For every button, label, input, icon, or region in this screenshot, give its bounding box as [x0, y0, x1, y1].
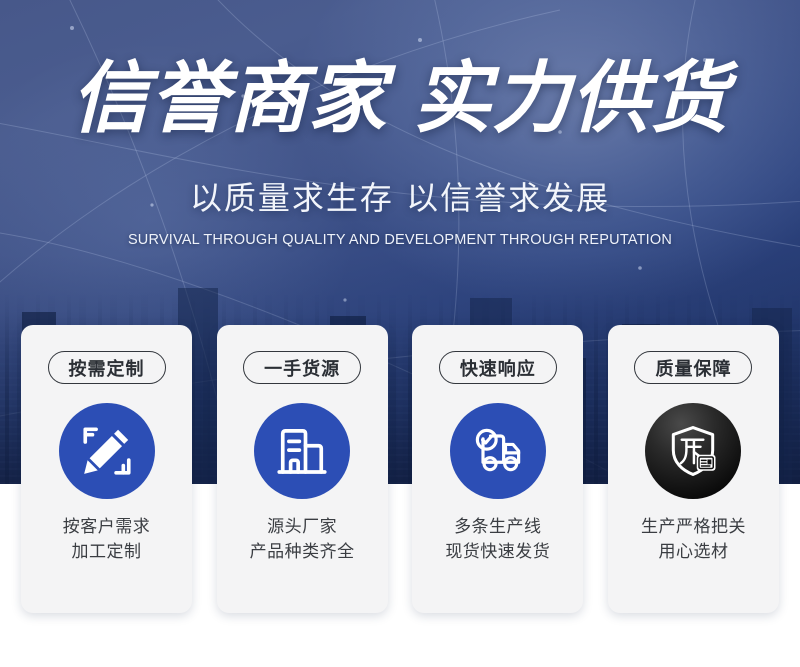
- headline-part-2: 实力供货: [413, 54, 729, 144]
- icon-circle: [59, 403, 155, 499]
- quality-shield-icon: [663, 421, 723, 481]
- card-badge: 质量保障: [634, 351, 752, 384]
- card-caption-line1: 多条生产线: [445, 515, 550, 540]
- card-caption-line2: 现货快速发货: [445, 540, 550, 565]
- card-badge: 一手货源: [243, 351, 361, 384]
- feature-card-source[interactable]: 一手货源 源头厂家 产品种类齐全: [217, 325, 388, 613]
- feature-card-response[interactable]: 快速响应 多条生产线 现货快速发货: [412, 325, 583, 613]
- factory-building-icon: [274, 423, 330, 479]
- icon-circle: [645, 403, 741, 499]
- card-caption-line2: 产品种类齐全: [250, 540, 355, 565]
- card-caption-line2: 加工定制: [63, 540, 151, 565]
- feature-card-custom[interactable]: 按需定制 按客户需求 加工定制: [21, 325, 192, 613]
- feature-card-list: 按需定制 按客户需求 加工定制 一手货源: [21, 325, 779, 613]
- icon-circle: [450, 403, 546, 499]
- card-caption: 多条生产线 现货快速发货: [445, 515, 550, 565]
- page-title: 信誉商家实力供货: [0, 56, 800, 142]
- card-caption: 生产严格把关 用心选材: [641, 515, 746, 565]
- card-badge: 快速响应: [439, 351, 557, 384]
- card-badge: 按需定制: [48, 351, 166, 384]
- hero-subtitle: 以质量求生存 以信誉求发展: [0, 178, 800, 218]
- card-caption-line1: 生产严格把关: [641, 515, 746, 540]
- feature-card-quality[interactable]: 质量保障: [608, 325, 779, 613]
- hero-subtitle-english: SURVIVAL THROUGH QUALITY AND DEVELOPMENT…: [0, 230, 800, 250]
- icon-circle: [254, 403, 350, 499]
- card-caption-line1: 源头厂家: [250, 515, 355, 540]
- pencil-ruler-icon: [78, 422, 136, 480]
- headline-part-1: 信誉商家: [71, 54, 387, 144]
- card-caption-line2: 用心选材: [641, 540, 746, 565]
- card-caption: 源头厂家 产品种类齐全: [250, 515, 355, 565]
- card-caption: 按客户需求 加工定制: [63, 515, 151, 565]
- card-caption-line1: 按客户需求: [63, 515, 151, 540]
- certificate-badge: [697, 455, 716, 471]
- delivery-truck-check-icon: [468, 421, 528, 481]
